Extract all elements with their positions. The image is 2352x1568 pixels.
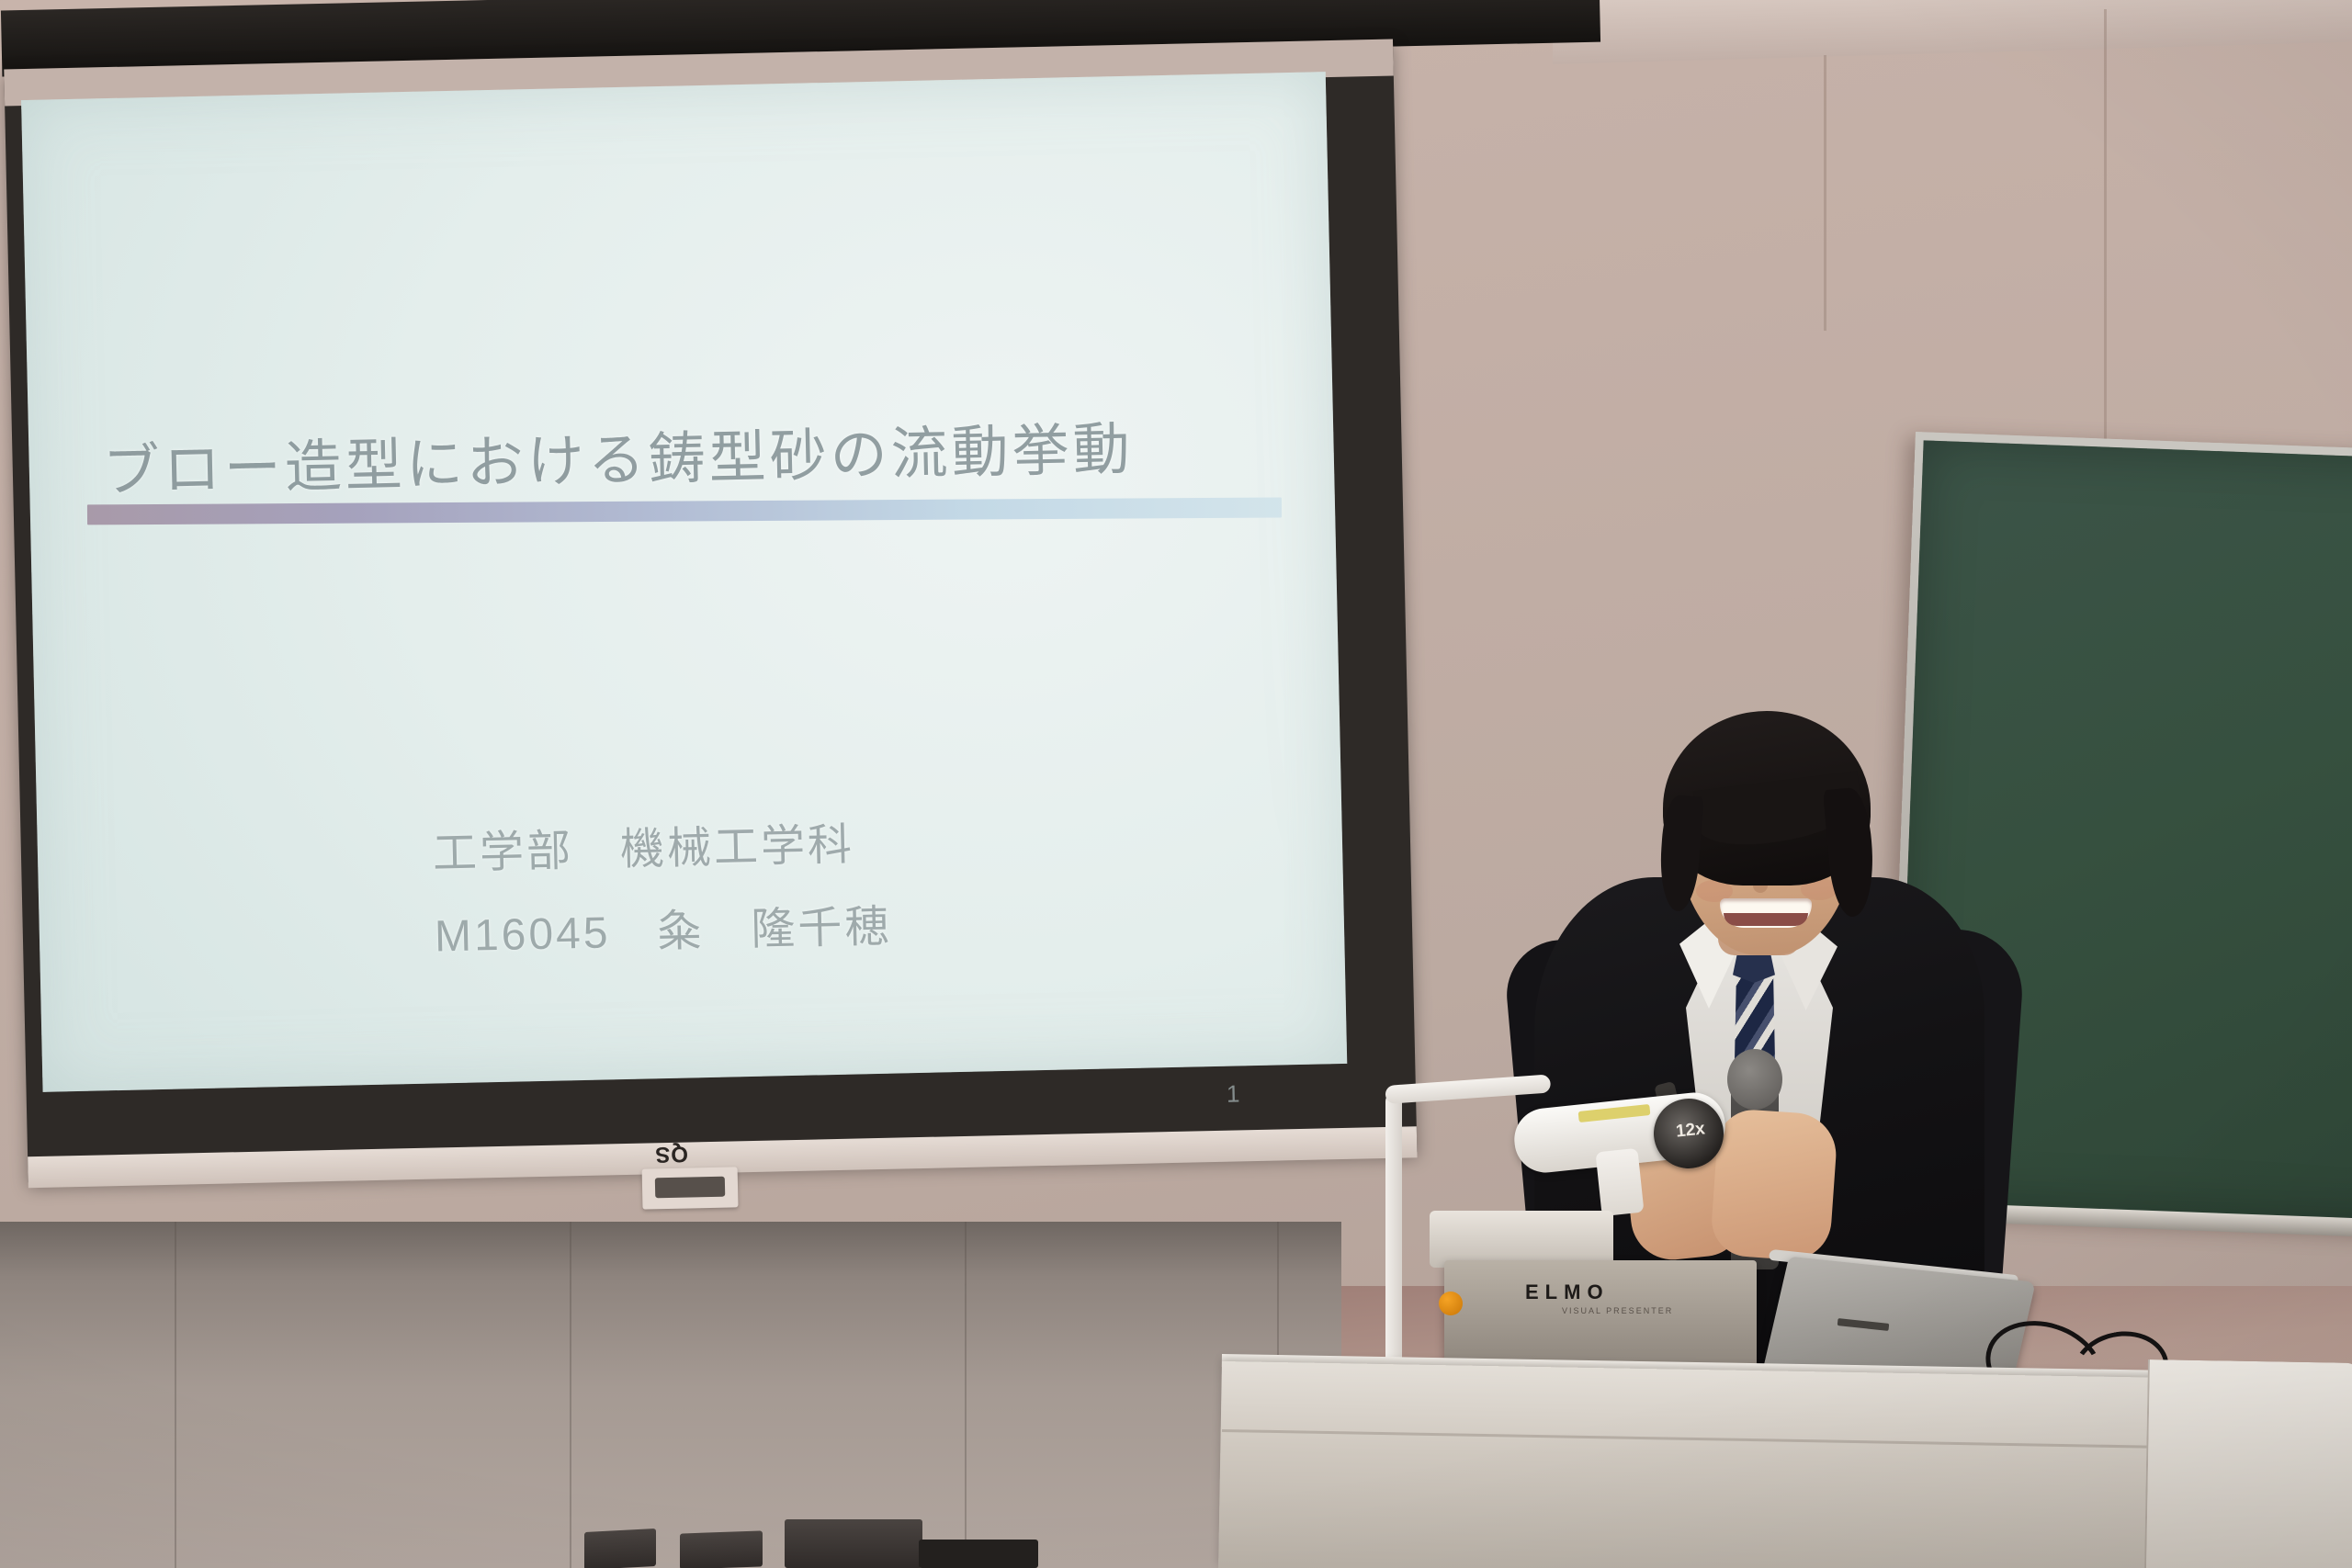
slide-subtitle-department: 工学部 機械工学科 [432, 799, 1260, 882]
wall-panel-seam [570, 1222, 571, 1568]
doccam-support-arm [1385, 1093, 1402, 1369]
slide-subtitle-author: M16045 粂 隆千穂 [434, 882, 1261, 964]
microphone-head-icon [1727, 1049, 1782, 1110]
projection-screen-assembly: ブロー造型における鋳型砂の流動挙動 工学部 機械工学科 M16045 粂 隆千穂… [0, 0, 1442, 1240]
podium-right-panel [2144, 1359, 2352, 1568]
foreground-desk [785, 1519, 922, 1568]
smiling-mouth [1720, 898, 1812, 928]
foreground-desk [919, 1540, 1038, 1568]
projected-slide: ブロー造型における鋳型砂の流動挙動 工学部 機械工学科 M16045 粂 隆千穂… [21, 72, 1347, 1092]
wall-panel-seam [175, 1222, 176, 1568]
screen-pull-handle [642, 1167, 739, 1209]
lecture-presentation-photo: ブロー造型における鋳型砂の流動挙動 工学部 機械工学科 M16045 粂 隆千穂… [0, 0, 2352, 1568]
doccam-focus-knob[interactable] [1439, 1292, 1463, 1315]
wall-panel-seam [1824, 55, 1826, 331]
wall-panel-seam [965, 1222, 967, 1568]
doccam-stage [1430, 1211, 1613, 1268]
slide-page-number: 1 [1227, 1079, 1240, 1108]
doccam-head-neck [1595, 1148, 1644, 1216]
wall-panel-seam [2104, 9, 2107, 487]
foreground-desk [680, 1530, 763, 1568]
foreground-desk [584, 1529, 656, 1568]
doccam-brand-label: ELMO [1525, 1280, 1610, 1304]
lower-wall-below-screen [0, 1222, 1341, 1568]
doccam-sub-label: VISUAL PRESENTER [1562, 1306, 1673, 1315]
podium-front-panel [1218, 1361, 2205, 1568]
slide-title: ブロー造型における鋳型砂の流動挙動 [102, 399, 1298, 507]
hand-right [1710, 1108, 1839, 1263]
screen-brand-logo: QS [654, 1141, 688, 1168]
